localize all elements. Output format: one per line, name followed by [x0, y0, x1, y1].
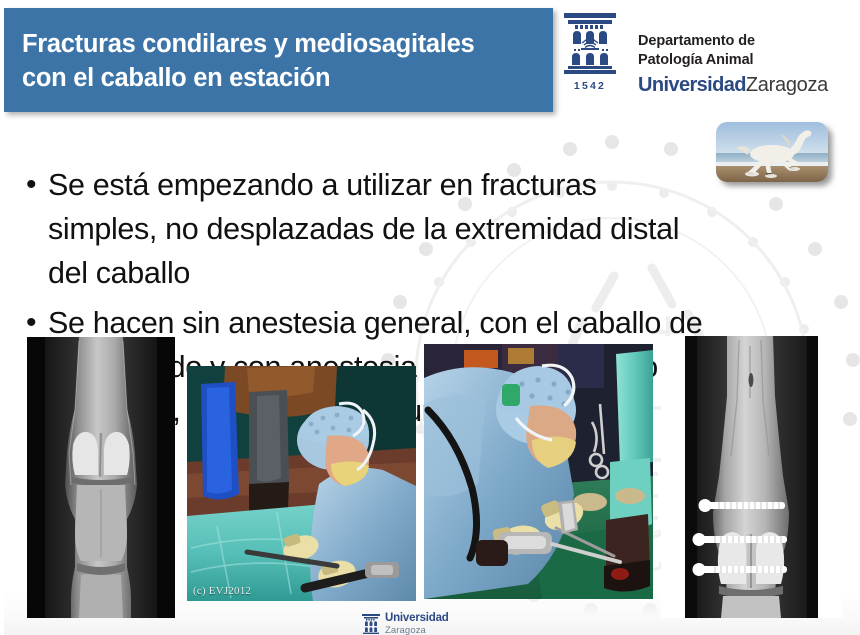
crest-year: 1542 [574, 80, 606, 92]
logo-zaragoza-word: Zaragoza [746, 74, 828, 96]
logo-dept-line-1: Departamento de [638, 32, 828, 51]
galloping-white-horse-photo [716, 122, 828, 182]
bullet-text: Se está empezando a utilizar en fractura… [48, 163, 838, 295]
logo-universidad-word: Universidad [638, 74, 746, 96]
xray-lag-screw-repair-postop [661, 336, 842, 618]
slide-left-margin [0, 0, 4, 635]
footer-universidad-word: Universidad [385, 613, 449, 625]
university-building-crest-icon [362, 614, 380, 634]
crest-wrap: 1542 [556, 12, 624, 92]
slide-canvas: Fracturas condilares y mediosagitales co… [0, 0, 860, 635]
slide-title-bar: Fracturas condilares y mediosagitales co… [4, 8, 553, 112]
bullet-marker: • [18, 163, 48, 207]
logo-dept-line-2: Patología Animal [638, 51, 828, 70]
photo-credit: (c) EVJ2012 [193, 585, 251, 597]
standing-surgery-horse-limb: (c) EVJ2012 [187, 366, 416, 601]
page-title: Fracturas condilares y mediosagitales co… [22, 27, 542, 95]
list-item: • Se está empezando a utilizar en fractu… [18, 163, 838, 295]
logo-universidad-zaragoza: UniversidadZaragoza [638, 73, 828, 97]
footer-zaragoza-word: Zaragoza [385, 626, 449, 635]
university-building-crest-icon [562, 12, 618, 78]
xray-condylar-fracture-preop [27, 337, 175, 618]
footer-text-block: Universidad Zaragoza [380, 613, 449, 635]
footer-university-logo: Universidad Zaragoza [362, 613, 449, 635]
university-logo: 1542 Departamento de Patología Animal Un… [556, 12, 856, 112]
standing-surgery-drilling [424, 344, 653, 599]
logo-text-block: Departamento de Patología Animal Univers… [624, 12, 828, 97]
